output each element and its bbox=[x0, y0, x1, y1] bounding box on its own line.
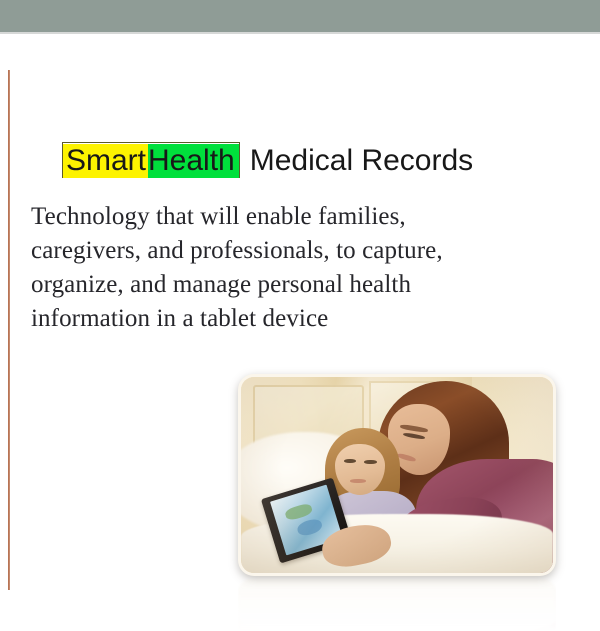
body-line: organize, and manage personal health bbox=[31, 268, 531, 302]
title-highlight-box: SmartHealth bbox=[62, 142, 240, 178]
left-accent-rule bbox=[8, 70, 10, 590]
photo-reflection bbox=[238, 579, 556, 631]
photo-container bbox=[238, 374, 556, 576]
photo-frame bbox=[238, 374, 556, 576]
body-line: Technology that will enable families, bbox=[31, 200, 531, 234]
title-remainder: Medical Records bbox=[240, 143, 473, 179]
body-line: caregivers, and professionals, to captur… bbox=[31, 234, 531, 268]
top-banner bbox=[0, 0, 600, 32]
page-title: SmartHealthMedical Records bbox=[62, 142, 473, 180]
title-highlight-health: Health bbox=[148, 144, 239, 178]
title-highlight-smart: Smart bbox=[63, 144, 148, 178]
reflection-duvet bbox=[238, 579, 556, 631]
slide-canvas: SmartHealthMedical Records Technology th… bbox=[0, 34, 600, 600]
photo-mother-and-child-with-tablet bbox=[241, 377, 553, 573]
photo-reflection-inner bbox=[238, 579, 556, 631]
body-paragraph: Technology that will enable families, ca… bbox=[31, 200, 531, 336]
photo-vignette bbox=[241, 377, 553, 573]
body-line: information in a tablet device bbox=[31, 302, 531, 336]
